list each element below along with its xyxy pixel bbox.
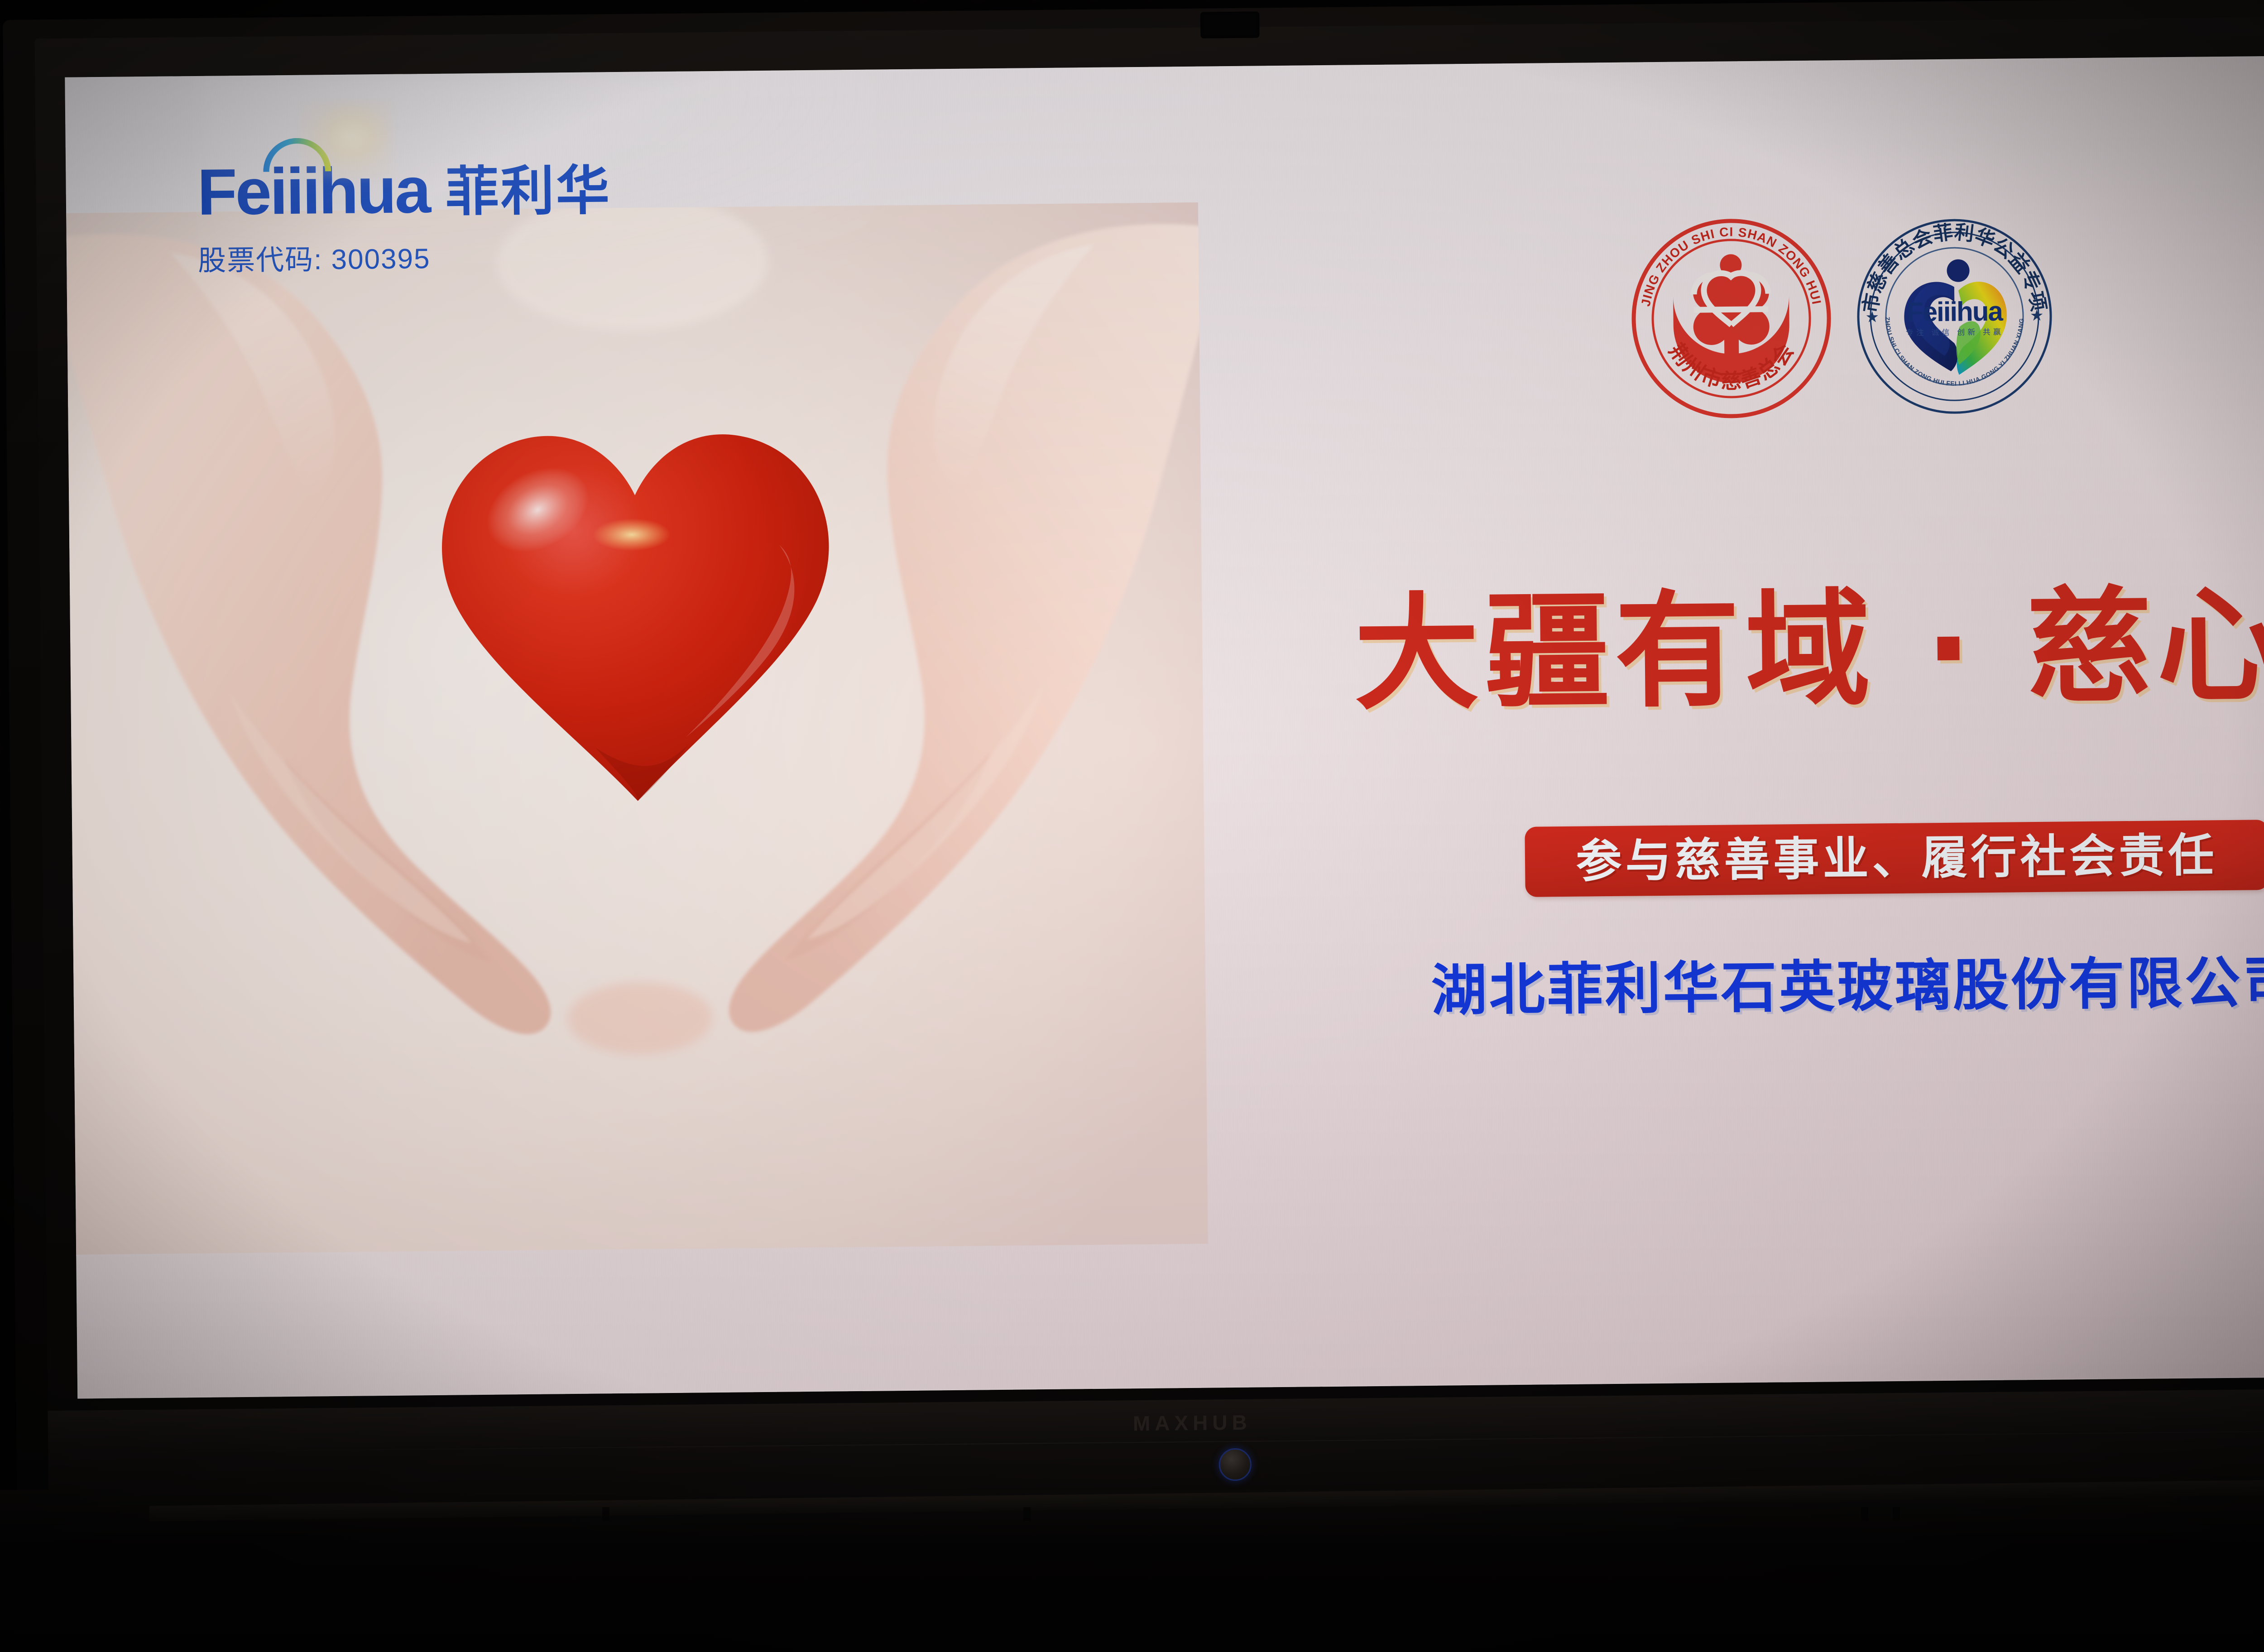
maxhub-brand-label: MAXHUB xyxy=(1133,1410,1252,1436)
stand-vent-slit xyxy=(1893,1507,1900,1521)
seal-arc-cjk: 荆州市慈善总会 xyxy=(1664,338,1799,394)
seal-group: JING ZHOU SHI CI SHAN ZONG HUI 荆州市慈善总会 xyxy=(1631,216,2053,419)
seal-arc-latin: JING ZHOU SHI CI SHAN ZONG HUI xyxy=(1638,224,1824,307)
company-name: 湖北菲利华石英玻璃股份有限公司 xyxy=(1431,954,2264,1019)
subtitle-banner: 参与慈善事业、履行社会责任 xyxy=(1525,820,2264,897)
power-button-icon[interactable] xyxy=(1218,1448,1252,1481)
feiiihua-public-welfare-fund-seal: ★ ★ 荆州市慈善总会菲利华公益专项基金 JING ZHOU SH xyxy=(1856,218,2053,415)
brand-wordmark: Feiiihua 菲利华 xyxy=(197,156,611,225)
jingzhou-charity-federation-seal: JING ZHOU SHI CI SHAN ZONG HUI 荆州市慈善总会 xyxy=(1631,218,1832,419)
stand-vent-slit xyxy=(1861,1507,1868,1521)
svg-text:荆州市慈善总会: 荆州市慈善总会 xyxy=(1664,338,1799,394)
emblem-tagline: 专注 诚信 创新 共赢 xyxy=(1857,325,2052,338)
svg-text:JING ZHOU SHI CI SHAN ZONG HUI: JING ZHOU SHI CI SHAN ZONG HUI xyxy=(1638,224,1824,307)
stock-code-label: 股票代码: 300395 xyxy=(198,234,612,279)
brand-cjk-wordmark: 菲利华 xyxy=(445,164,611,223)
hands-heart-illustration xyxy=(66,202,1208,1255)
slide-headline: 大疆有域 · 慈心无垠 xyxy=(1353,583,2264,718)
maxhub-interactive-display[interactable]: Feiiihua 菲利华 股票代码: 300395 xyxy=(3,0,2264,1537)
emblem-wordmark: Feiiihua xyxy=(1857,295,2052,328)
stand-vent-slit xyxy=(602,1507,609,1521)
seal-arc-text: JING ZHOU SHI CI SHAN ZONG HUI 荆州市慈善总会 xyxy=(1631,218,1832,419)
hands-forming-heart-photo xyxy=(66,202,1208,1255)
room-ambient-background: Feiiihua 菲利华 股票代码: 300395 xyxy=(0,0,2264,1652)
camera-module-icon xyxy=(1200,11,1260,38)
brand-latin-wordmark: Feiiihua xyxy=(197,158,429,225)
presentation-slide: Feiiihua 菲利华 股票代码: 300395 xyxy=(65,56,2264,1399)
subtitle-banner-text: 参与慈善事业、履行社会责任 xyxy=(1576,832,2218,884)
feiiihua-brand-logo: Feiiihua 菲利华 股票代码: 300395 xyxy=(197,156,612,279)
stand-vent-slit xyxy=(1023,1507,1031,1521)
display-screen[interactable]: Feiiihua 菲利华 股票代码: 300395 xyxy=(65,56,2264,1399)
